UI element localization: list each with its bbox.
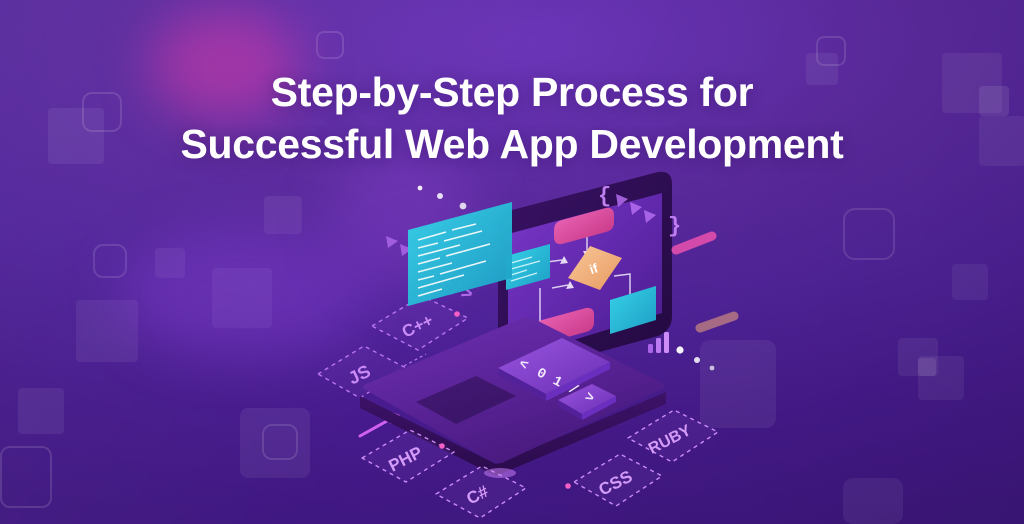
brace-close-icon: }	[668, 214, 681, 239]
background-square	[76, 300, 138, 362]
sparkle-dots	[418, 186, 467, 210]
background-square	[843, 478, 903, 524]
pink-slash-decor	[676, 236, 734, 328]
background-square	[18, 388, 64, 434]
background-square	[952, 264, 988, 300]
language-tag-cpp: C++	[372, 296, 468, 350]
background-square	[0, 446, 52, 508]
background-square	[264, 196, 302, 234]
brace-open-icon: {	[598, 184, 611, 209]
background-square	[316, 31, 344, 59]
language-tag-css: CSS	[565, 454, 662, 506]
banner-root: Step-by-Step Process for Successful Web …	[0, 0, 1024, 524]
code-panel	[408, 202, 512, 306]
language-tag-ruby: RUBY	[628, 410, 718, 462]
title-line-2: Successful Web App Development	[40, 118, 984, 170]
background-square	[262, 424, 298, 460]
background-square	[816, 36, 846, 66]
background-square	[918, 356, 964, 400]
page-title: Step-by-Step Process for Successful Web …	[0, 66, 1024, 170]
background-square	[212, 268, 272, 328]
signal-dots	[676, 346, 714, 370]
background-square	[93, 244, 127, 278]
title-line-1: Step-by-Step Process for	[40, 66, 984, 118]
background-square	[843, 208, 895, 260]
background-square	[155, 248, 185, 278]
isometric-laptop-illustration: C++ JS </>	[300, 168, 770, 524]
